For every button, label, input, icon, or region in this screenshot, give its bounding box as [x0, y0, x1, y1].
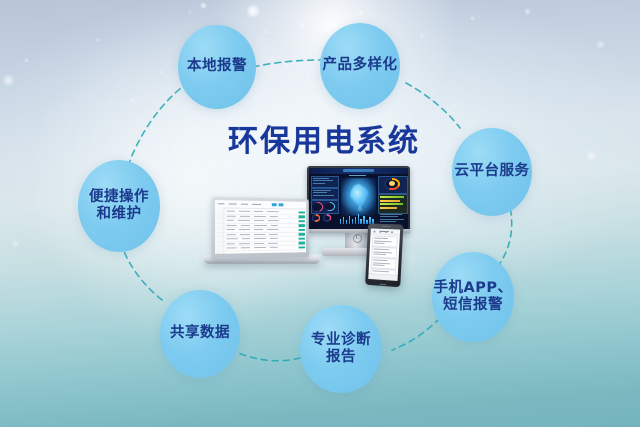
dashboard-text-line	[380, 214, 402, 215]
table-cell	[268, 220, 279, 221]
dashboard-text-line	[380, 219, 404, 220]
status-badge	[299, 233, 306, 236]
table-cell	[254, 220, 264, 221]
poster-canvas: 本地报警 产品多样化 云平台服务 手机APP、 短信报警 专业诊断 报告 共享数…	[0, 0, 640, 427]
dashboard-bar	[358, 214, 359, 223]
laptop-computer	[204, 198, 320, 270]
phone-speaker	[381, 226, 390, 227]
table-cell	[270, 247, 278, 248]
status-badge	[299, 228, 306, 231]
toolbar-menu-line	[241, 203, 248, 205]
monitor-logo-icon	[353, 234, 362, 243]
phone-screen	[368, 229, 400, 281]
table-cell	[270, 238, 278, 239]
dashboard-text-line	[349, 175, 367, 176]
table-cell	[254, 233, 265, 234]
dashboard-text-line	[313, 190, 331, 191]
smartphone	[365, 223, 403, 287]
status-badge	[299, 237, 306, 240]
table-cell	[271, 225, 278, 226]
table-cell	[238, 220, 250, 221]
table-cell	[270, 216, 278, 217]
map-beam-icon	[357, 205, 363, 212]
dashboard-text-line	[313, 183, 325, 184]
dashboard-bar	[340, 219, 341, 224]
dashboard-bar	[366, 220, 367, 224]
status-badge	[299, 215, 306, 218]
dashboard-donut-chart	[325, 203, 333, 210]
toolbar-menu-line	[218, 203, 224, 205]
table-cell	[267, 211, 279, 213]
dashboard-bar	[355, 217, 356, 223]
table-cell	[239, 229, 250, 230]
phone-tab-icon[interactable]	[374, 230, 376, 232]
dashboard-text-line	[380, 221, 396, 222]
table-cell	[241, 224, 250, 225]
desktop-monitor	[307, 166, 410, 233]
table-cell	[254, 242, 264, 244]
table-cell	[227, 243, 235, 245]
table-cell	[254, 229, 263, 230]
device-group	[0, 0, 640, 427]
table-cell	[268, 242, 278, 243]
table-cell	[239, 211, 250, 213]
table-cell	[254, 247, 266, 249]
toolbar-menu-line	[229, 203, 237, 205]
table-cell	[227, 211, 235, 213]
status-badge	[299, 211, 306, 214]
dashboard-bar	[369, 217, 370, 224]
status-badge	[299, 224, 306, 227]
status-badge	[299, 246, 306, 249]
toolbar-menu-line	[252, 203, 261, 205]
table-cell	[227, 224, 237, 225]
phone-tab-bar	[368, 273, 398, 281]
table-cell	[241, 247, 250, 249]
table-cell	[254, 211, 263, 212]
china-map-visual	[341, 178, 377, 216]
phone-tab-icon[interactable]	[379, 230, 381, 232]
dashboard-bar	[343, 217, 344, 224]
dashboard-bar	[380, 200, 400, 202]
table-cell	[242, 238, 250, 239]
dashboard-bar	[380, 203, 403, 205]
toolbar-badge[interactable]	[272, 203, 277, 207]
table-cell	[267, 229, 279, 230]
monitor-screen	[309, 168, 408, 229]
laptop-screen	[215, 200, 306, 254]
table-cell	[227, 234, 236, 235]
dashboard-bar	[380, 207, 397, 209]
dashboard-text-line	[380, 216, 398, 217]
dashboard-bar	[380, 196, 404, 198]
laptop-lid	[212, 197, 309, 259]
table-cell	[227, 238, 238, 240]
dashboard-bar	[360, 219, 361, 224]
china-map-shape	[347, 182, 370, 208]
table-cell	[254, 215, 266, 216]
table-cell	[227, 247, 237, 249]
phone-home-button[interactable]	[379, 283, 386, 285]
table-cell	[227, 215, 236, 217]
toolbar-badge[interactable]	[279, 203, 284, 207]
table-cell	[240, 234, 250, 235]
table-cell	[227, 229, 235, 230]
status-badge	[299, 242, 306, 245]
dashboard-bar	[363, 216, 364, 223]
table-cell	[227, 220, 234, 221]
dashboard-text-line	[313, 195, 334, 196]
table-cell	[239, 243, 250, 245]
dashboard-bar	[352, 219, 353, 223]
status-badge	[299, 220, 306, 223]
table-cell	[254, 238, 266, 239]
dashboard-text-line	[313, 192, 327, 193]
dashboard-text-line	[313, 180, 333, 181]
table-cell	[269, 233, 278, 234]
table-cell	[254, 224, 267, 225]
dashboard-text-line	[313, 178, 329, 179]
dashboard-header	[309, 168, 408, 174]
dashboard-bar	[349, 216, 350, 224]
table-cell	[240, 215, 250, 216]
phone-tab-icon[interactable]	[385, 231, 387, 233]
dashboard-bar	[346, 220, 347, 224]
phone-tab-icon[interactable]	[391, 231, 393, 233]
